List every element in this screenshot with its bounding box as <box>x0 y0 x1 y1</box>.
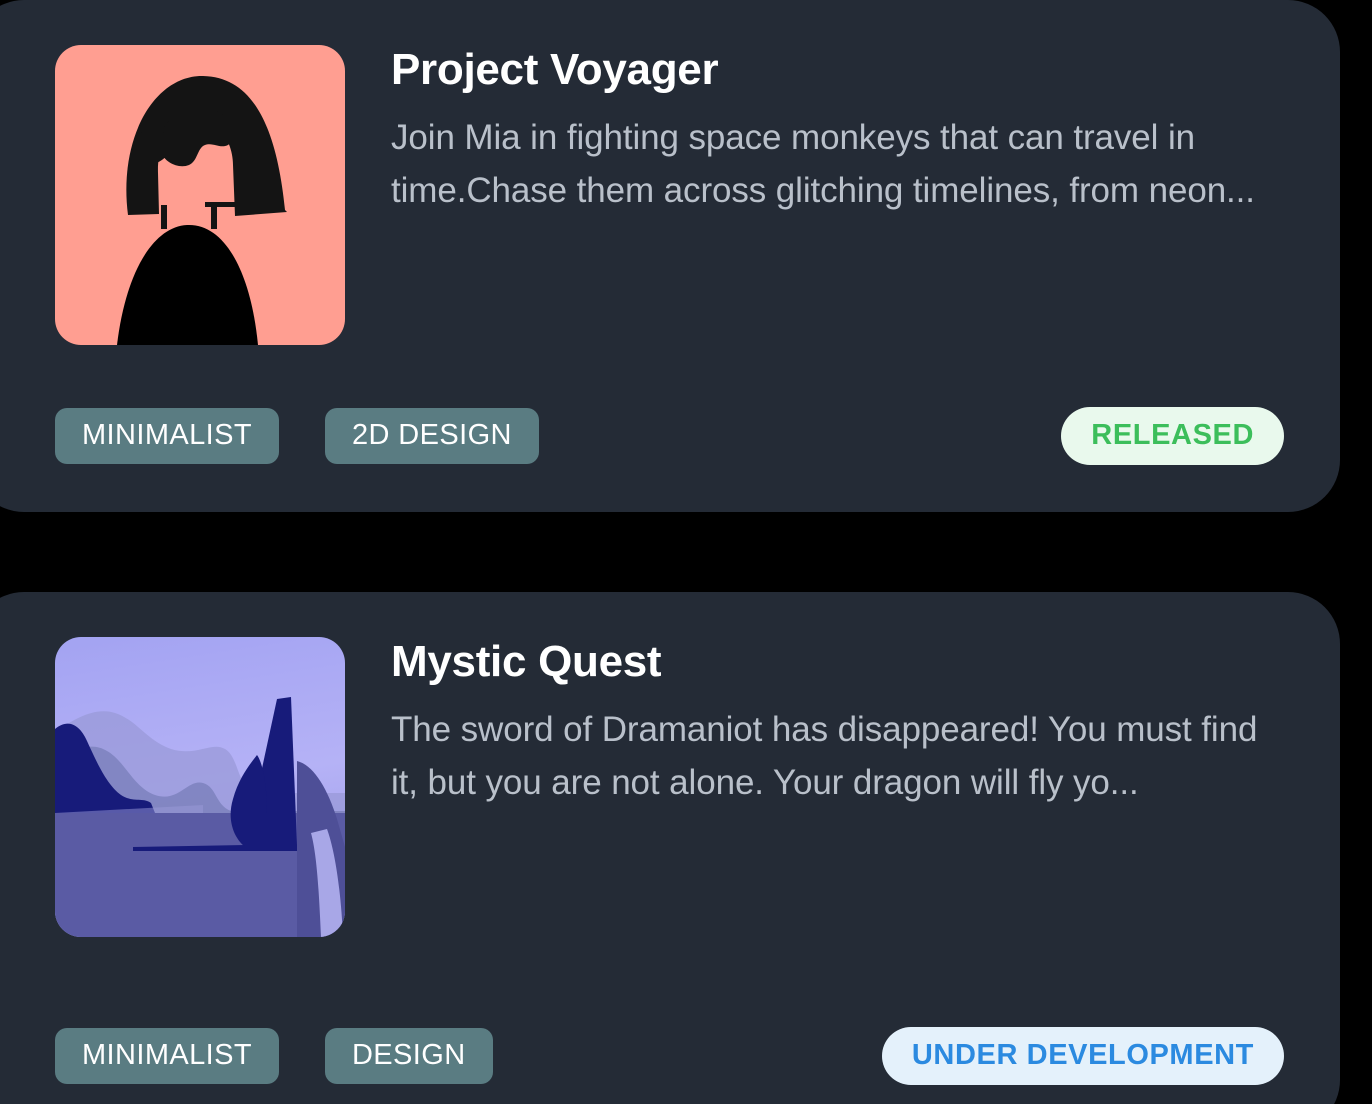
project-card[interactable]: Mystic Quest The sword of Dramaniot has … <box>0 592 1340 1104</box>
project-title: Project Voyager <box>391 47 1284 93</box>
tag-chip[interactable]: 2D DESIGN <box>325 408 539 464</box>
card-footer-row: MINIMALIST DESIGN UNDER DEVELOPMENT <box>55 1027 1284 1085</box>
status-badge: UNDER DEVELOPMENT <box>882 1027 1284 1085</box>
tag-list: MINIMALIST 2D DESIGN <box>55 408 539 464</box>
project-description: Join Mia in fighting space monkeys that … <box>391 111 1284 218</box>
card-inner: Project Voyager Join Mia in fighting spa… <box>0 45 1340 512</box>
card-header-row: Mystic Quest The sword of Dramaniot has … <box>55 637 1284 937</box>
project-thumbnail[interactable] <box>55 45 345 345</box>
tag-chip[interactable]: MINIMALIST <box>55 1028 279 1084</box>
project-title: Mystic Quest <box>391 639 1284 685</box>
mountain-landscape-illustration <box>55 637 345 937</box>
tag-chip[interactable]: MINIMALIST <box>55 408 279 464</box>
card-header-row: Project Voyager Join Mia in fighting spa… <box>55 45 1284 345</box>
avatar-portrait-illustration <box>55 45 345 345</box>
status-badge: RELEASED <box>1061 407 1284 465</box>
card-inner: Mystic Quest The sword of Dramaniot has … <box>0 637 1340 1104</box>
project-list-screen: Project Voyager Join Mia in fighting spa… <box>0 0 1372 1104</box>
tag-chip[interactable]: DESIGN <box>325 1028 493 1084</box>
project-card[interactable]: Project Voyager Join Mia in fighting spa… <box>0 0 1340 512</box>
project-description: The sword of Dramaniot has disappeared! … <box>391 703 1284 810</box>
card-text-block: Project Voyager Join Mia in fighting spa… <box>391 45 1284 218</box>
project-thumbnail[interactable] <box>55 637 345 937</box>
card-footer-row: MINIMALIST 2D DESIGN RELEASED <box>55 407 1284 465</box>
tag-list: MINIMALIST DESIGN <box>55 1028 493 1084</box>
card-text-block: Mystic Quest The sword of Dramaniot has … <box>391 637 1284 810</box>
